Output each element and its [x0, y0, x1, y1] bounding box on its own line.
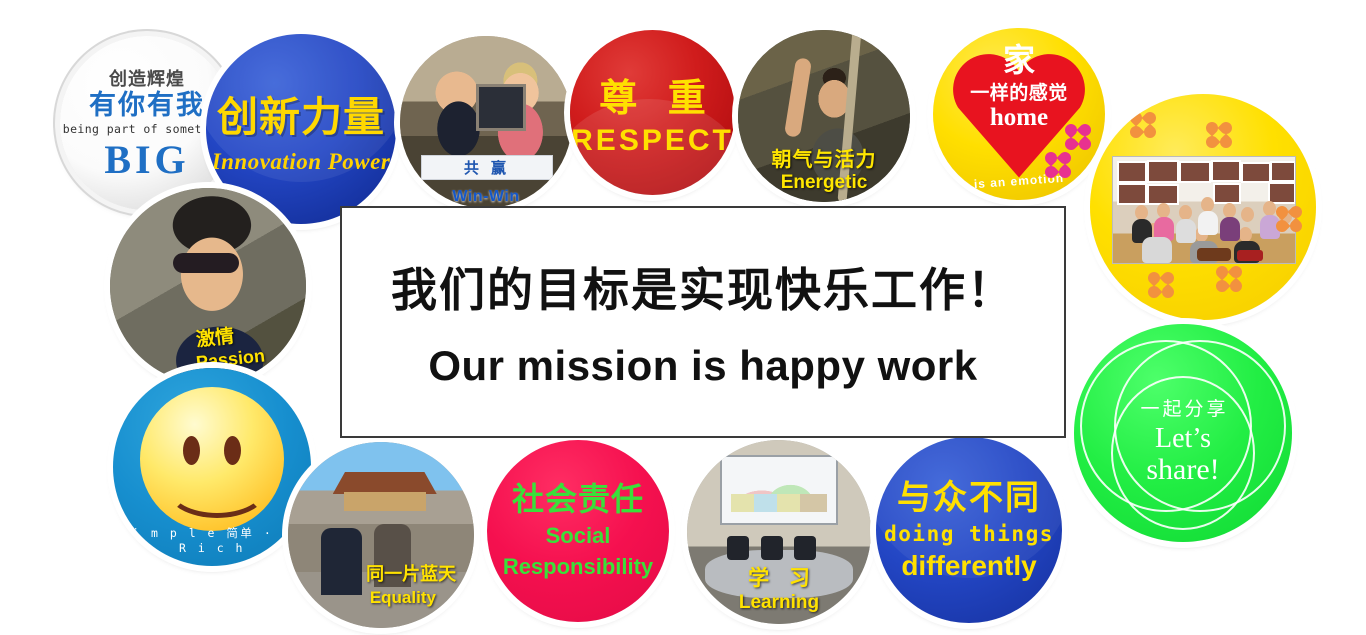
badge-doing-things-differently[interactable]: 与众不同 doing things differently [876, 437, 1062, 623]
badge-learning-english: Learning [687, 592, 871, 614]
badge-different-english-line2: differently [876, 549, 1062, 582]
badge-simple-rich[interactable]: S i m p l e 简单 · 充实 R i c h [113, 368, 311, 566]
badge-energetic-chinese: 朝气与活力 [738, 143, 910, 172]
badge-social-english-line1: Social [487, 524, 669, 549]
person-shape [321, 528, 362, 595]
badge-learning-chinese: 学 习 [687, 562, 871, 592]
badge-winwin-english: Win-Win [400, 188, 572, 206]
values-collage: 创造辉煌 有你有我 being part of something BIG 创新… [0, 0, 1366, 635]
chair-shape [761, 536, 783, 560]
badge-win-win[interactable]: 共 赢 Win-Win [400, 36, 572, 208]
badge-innovation-chinese: 创新力量 [206, 83, 396, 143]
arm-shape [784, 57, 812, 138]
badge-share-content: 一起分享 Let’s share! [1074, 394, 1292, 487]
badge-share-english-line1: Let’s [1074, 423, 1292, 455]
badge-equality[interactable]: 同一片蓝天 Equality [288, 442, 474, 628]
badge-passion-chinese: 激情 [195, 321, 236, 352]
badge-share-english-line2: share! [1074, 453, 1292, 487]
flower-icon [1065, 124, 1091, 150]
badge-smile-arc-text: S i m p l e 简单 · 充实 R i c h [113, 525, 311, 555]
chair-shape [727, 536, 749, 560]
flower-icon [1216, 266, 1242, 292]
sunglasses-shape [173, 253, 239, 273]
badge-social-chinese: 社会责任 [487, 482, 669, 518]
badge-different-english-line1: doing things [876, 522, 1062, 547]
badge-social-content: 社会责任 Social Responsibility [487, 482, 669, 579]
badge-home-chinese-big: 家 [1003, 44, 1035, 76]
monitor-shape [476, 84, 527, 131]
badge-social-english-line2: Responsibility [487, 555, 669, 580]
group-photo [1112, 156, 1296, 264]
flower-icon [1276, 206, 1302, 232]
smile-mouth [166, 459, 268, 518]
badge-passion[interactable]: 激情 Passion [110, 188, 306, 384]
flower-icon [1206, 122, 1232, 148]
flower-icon [1130, 112, 1156, 138]
badge-family-photo[interactable] [1090, 94, 1316, 320]
mission-banner: 我们的目标是实现快乐工作！ Our mission is happy work [340, 206, 1066, 438]
badge-respect[interactable]: 尊 重 RESPECT [570, 30, 735, 195]
mission-chinese: 我们的目标是实现快乐工作！ [391, 254, 1015, 320]
smiley-face-icon [140, 387, 284, 531]
badge-energetic-english: Energetic [738, 172, 910, 194]
badge-equality-english: Equality [370, 588, 436, 608]
badge-innovation-content: 创新力量 Innovation Power [206, 83, 396, 175]
temple-wall-shape [344, 492, 426, 511]
projector-screen-shape [720, 455, 838, 525]
badge-social-responsibility[interactable]: 社会责任 Social Responsibility [487, 440, 669, 622]
badge-different-chinese: 与众不同 [876, 478, 1062, 518]
badge-home-english: home [990, 104, 1048, 132]
badge-winwin-chinese: 共 赢 [421, 155, 554, 180]
badge-lets-share[interactable]: 一起分享 Let’s share! [1074, 324, 1292, 542]
badge-home-is-an-emotion[interactable]: 家 一样的感觉 home is an emotion [933, 28, 1105, 200]
badge-share-chinese: 一起分享 [1074, 394, 1292, 421]
mission-english: Our mission is happy work [428, 342, 977, 390]
badge-equality-chinese: 同一片蓝天 [366, 560, 456, 586]
cake-shape [1197, 248, 1231, 261]
badge-learning[interactable]: 学 习 Learning [687, 440, 871, 624]
win-win-photo [400, 36, 572, 208]
cake-shape [1237, 250, 1263, 261]
flower-icon [1148, 272, 1174, 298]
badge-respect-content: 尊 重 RESPECT [570, 67, 735, 158]
chair-shape [794, 536, 816, 560]
badge-home-chinese-sub: 一样的感觉 [970, 78, 1068, 105]
chart-legend-shape [731, 494, 827, 513]
badge-innovation-english: Innovation Power [206, 149, 396, 175]
badge-different-content: 与众不同 doing things differently [876, 478, 1062, 582]
badge-energetic[interactable]: 朝气与活力 Energetic [738, 30, 910, 202]
badge-respect-chinese: 尊 重 [570, 67, 735, 122]
flower-icon [1045, 152, 1071, 178]
temple-roof-shape [333, 472, 437, 494]
badge-respect-english: RESPECT [570, 124, 735, 158]
